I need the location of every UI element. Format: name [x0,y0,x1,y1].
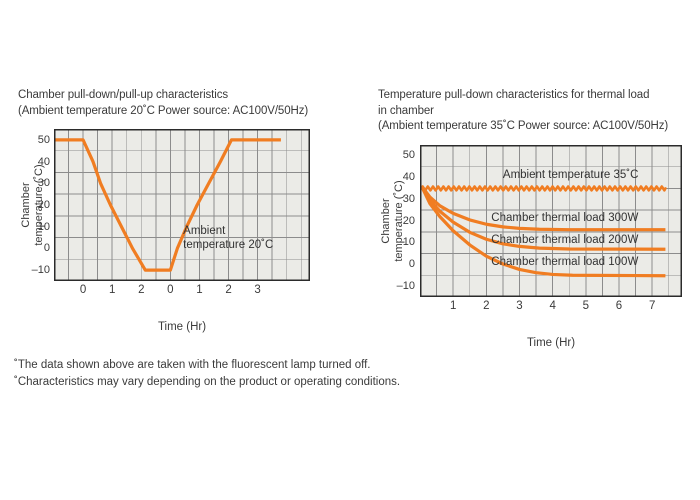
x-tick-label: 4 [549,300,555,312]
right-chart-x-axis-label: Time (Hr) [420,337,682,349]
left-chart-panel: Chamber pull-down/pull-up characteristic… [18,88,348,333]
x-tick-label: 3 [254,284,260,296]
right-chart-y-ticks: 50403020100–10 [389,145,415,297]
y-tick-label: 0 [44,242,50,254]
x-tick-label: 1 [196,284,202,296]
x-tick-label: 0 [80,284,86,296]
y-tick-label: 50 [38,134,50,146]
footnote-1: ˚The data shown above are taken with the… [14,357,400,374]
y-tick-label: 40 [38,156,50,168]
y-tick-label: 10 [403,236,415,248]
left-chart-title: Chamber pull-down/pull-up characteristic… [18,88,348,119]
footnotes: ˚The data shown above are taken with the… [14,357,400,391]
x-tick-label: 3 [516,300,522,312]
left-chart-y-ticks: 50403020100–10 [24,129,50,281]
y-tick-label: 20 [403,215,415,227]
y-tick-label: 0 [409,258,415,270]
x-tick-label: 7 [649,300,655,312]
x-tick-label: 1 [450,300,456,312]
x-tick-label: 5 [583,300,589,312]
footnote-2: ˚Characteristics may vary depending on t… [14,374,400,391]
x-tick-label: 1 [109,284,115,296]
right-chart-svg [420,145,682,297]
x-tick-label: 0 [167,284,173,296]
right-chart-x-ticks: 1234567 [420,300,682,316]
y-tick-label: 50 [403,149,415,161]
y-tick-label: 30 [403,193,415,205]
left-chart-x-ticks: 0120123 [54,284,310,300]
left-chart-svg [54,129,310,281]
right-chart-plot-area: Ambient temperature 35˚C Chamber thermal… [420,145,682,297]
left-chart-plot-area: Ambient temperature 20˚C [54,129,310,281]
right-chart-block: Chamber temperature (˚C) 50403020100–10 … [378,145,688,349]
y-tick-label: 20 [38,199,50,211]
y-tick-label: –10 [397,280,415,292]
x-tick-label: 2 [225,284,231,296]
left-chart-x-axis-label: Time (Hr) [54,321,310,333]
x-tick-label: 6 [616,300,622,312]
y-tick-label: 30 [38,177,50,189]
left-chart-block: Chamber temperature (˚C) 50403020100–10 … [18,129,348,333]
y-tick-label: 40 [403,171,415,183]
y-tick-label: 10 [38,221,50,233]
right-chart-title: Temperature pull-down characteristics fo… [378,88,688,135]
y-tick-label: –10 [32,264,50,276]
x-tick-label: 2 [483,300,489,312]
right-chart-panel: Temperature pull-down characteristics fo… [378,88,688,349]
x-tick-label: 2 [138,284,144,296]
